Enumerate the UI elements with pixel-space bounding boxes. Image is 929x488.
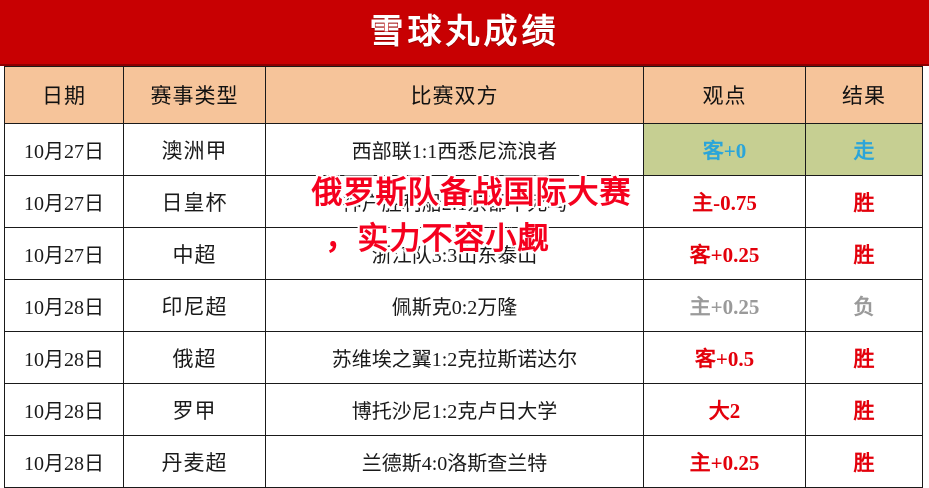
table-row: 10月28日 罗甲 博托沙尼1:2克卢日大学 大2 胜	[5, 384, 923, 436]
table-row: 10月28日 俄超 苏维埃之翼1:2克拉斯诺达尔 客+0.5 胜	[5, 332, 923, 384]
table-body: 10月27日 澳洲甲 西部联1:1西悉尼流浪者 客+0 走 10月27日 日皇杯…	[5, 124, 923, 488]
cell-match: 苏维埃之翼1:2克拉斯诺达尔	[266, 332, 644, 384]
cell-date: 10月28日	[5, 384, 124, 436]
column-header-type: 赛事类型	[124, 67, 266, 124]
cell-result: 胜	[806, 176, 923, 228]
cell-view: 主+0.25	[644, 280, 806, 332]
cell-view: 客+0.25	[644, 228, 806, 280]
cell-match: 西部联1:1西悉尼流浪者	[266, 124, 644, 176]
column-header-date: 日期	[5, 67, 124, 124]
table-row: 10月27日 澳洲甲 西部联1:1西悉尼流浪者 客+0 走	[5, 124, 923, 176]
title-banner: 雪球丸成绩	[0, 0, 929, 66]
table-head: 日期 赛事类型 比赛双方 观点 结果	[5, 67, 923, 124]
table-row: 10月28日 印尼超 佩斯克0:2万隆 主+0.25 负	[5, 280, 923, 332]
table-header-row: 日期 赛事类型 比赛双方 观点 结果	[5, 67, 923, 124]
cell-date: 10月27日	[5, 228, 124, 280]
cell-view: 主-0.75	[644, 176, 806, 228]
cell-match: 神户胜利船2:1京都不死鸟	[266, 176, 644, 228]
cell-view: 大2	[644, 384, 806, 436]
column-header-match: 比赛双方	[266, 67, 644, 124]
cell-type: 澳洲甲	[124, 124, 266, 176]
cell-result: 负	[806, 280, 923, 332]
cell-match: 浙江队3:3山东泰山	[266, 228, 644, 280]
column-header-view: 观点	[644, 67, 806, 124]
cell-view: 客+0	[644, 124, 806, 176]
page-title: 雪球丸成绩	[0, 0, 929, 66]
cell-result: 胜	[806, 332, 923, 384]
cell-type: 日皇杯	[124, 176, 266, 228]
cell-date: 10月28日	[5, 332, 124, 384]
table-row: 10月27日 中超 浙江队3:3山东泰山 客+0.25 胜	[5, 228, 923, 280]
table-row: 10月27日 日皇杯 神户胜利船2:1京都不死鸟 主-0.75 胜	[5, 176, 923, 228]
cell-result: 走	[806, 124, 923, 176]
results-table-container: 日期 赛事类型 比赛双方 观点 结果 10月27日 澳洲甲 西部联1:1西悉尼流…	[4, 66, 922, 488]
cell-date: 10月27日	[5, 124, 124, 176]
cell-view: 客+0.5	[644, 332, 806, 384]
cell-date: 10月27日	[5, 176, 124, 228]
screenshot-root: 雪球丸成绩 日期 赛事类型 比赛双方 观点 结果	[0, 0, 929, 480]
column-header-result: 结果	[806, 67, 923, 124]
cell-type: 罗甲	[124, 384, 266, 436]
results-table: 日期 赛事类型 比赛双方 观点 结果 10月27日 澳洲甲 西部联1:1西悉尼流…	[4, 66, 923, 488]
cell-result: 胜	[806, 384, 923, 436]
cell-date: 10月28日	[5, 280, 124, 332]
cell-match: 博托沙尼1:2克卢日大学	[266, 384, 644, 436]
cell-match: 佩斯克0:2万隆	[266, 280, 644, 332]
cell-type: 印尼超	[124, 280, 266, 332]
cell-result: 胜	[806, 228, 923, 280]
cell-type: 俄超	[124, 332, 266, 384]
cell-type: 中超	[124, 228, 266, 280]
